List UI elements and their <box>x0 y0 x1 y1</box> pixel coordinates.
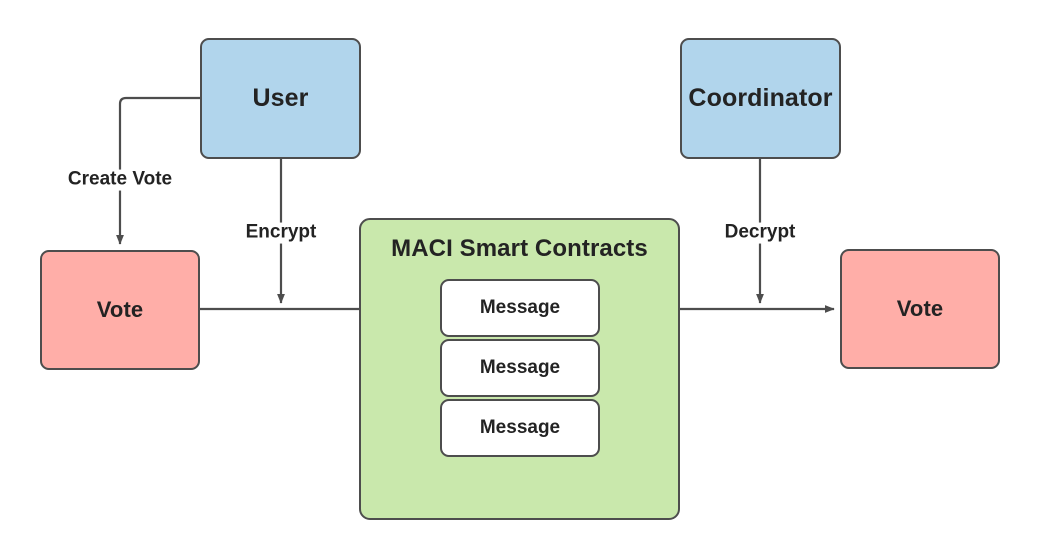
edge-label-decrypt: Decrypt <box>722 223 799 244</box>
message-box-1-label: Message <box>480 297 560 319</box>
edge-label-encrypt: Encrypt <box>243 223 320 244</box>
message-box-2-label: Message <box>480 357 560 379</box>
edge-label-create-vote: Create Vote <box>65 170 175 191</box>
user-node-label: User <box>253 84 309 113</box>
message-box-3[interactable]: Message <box>440 399 600 457</box>
message-box-3-label: Message <box>480 417 560 439</box>
diagram-canvas: MACI Smart Contracts Message Message Mes… <box>0 0 1040 560</box>
edge-label-create-vote-text: Create Vote <box>68 169 172 190</box>
vote-node-right-label: Vote <box>897 296 943 322</box>
coordinator-node[interactable]: Coordinator <box>680 38 841 159</box>
user-node[interactable]: User <box>200 38 361 159</box>
edge-label-encrypt-text: Encrypt <box>246 222 317 243</box>
vote-node-right[interactable]: Vote <box>840 249 1000 369</box>
vote-node-left[interactable]: Vote <box>40 250 200 370</box>
message-box-1[interactable]: Message <box>440 279 600 337</box>
coordinator-node-label: Coordinator <box>688 84 832 113</box>
vote-node-left-label: Vote <box>97 297 143 323</box>
edge-label-decrypt-text: Decrypt <box>725 222 796 243</box>
message-box-2[interactable]: Message <box>440 339 600 397</box>
maci-container-title: MACI Smart Contracts <box>361 235 678 263</box>
